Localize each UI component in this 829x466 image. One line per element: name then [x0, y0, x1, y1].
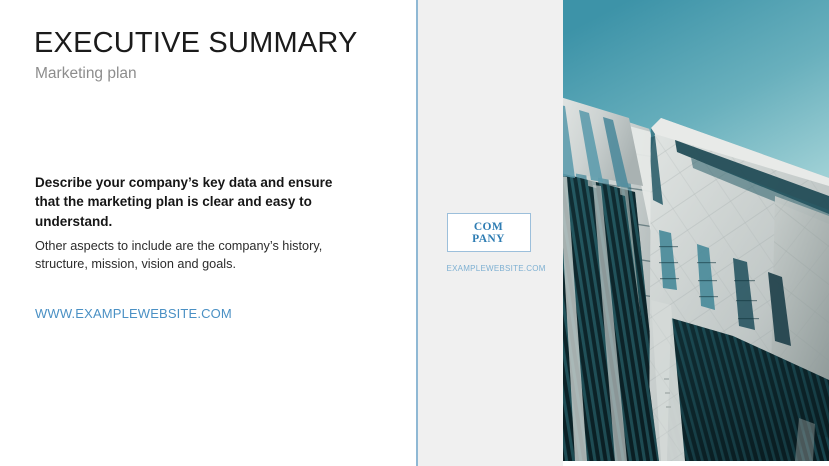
logo-line-2: PANY — [472, 233, 505, 245]
lead-paragraph: Describe your company’s key data and ens… — [35, 173, 335, 231]
page-subtitle: Marketing plan — [35, 64, 137, 84]
logo-line-1: COM — [474, 221, 503, 233]
website-link[interactable]: WWW.EXAMPLEWEBSITE.COM — [35, 305, 232, 323]
body-paragraph: Other aspects to include are the company… — [35, 237, 370, 273]
slide-canvas: EXECUTIVE SUMMARY Marketing plan Describ… — [0, 0, 829, 466]
building-photo-illustration — [563, 0, 829, 461]
building-photo — [563, 0, 829, 461]
left-content-column: EXECUTIVE SUMMARY Marketing plan Describ… — [0, 0, 416, 466]
logo-caption: EXAMPLEWEBSITE.COM — [447, 264, 533, 273]
company-logo: COM PANY — [447, 213, 531, 252]
page-title: EXECUTIVE SUMMARY — [34, 26, 358, 60]
logo-panel: COM PANY EXAMPLEWEBSITE.COM — [418, 0, 564, 466]
logo-block: COM PANY EXAMPLEWEBSITE.COM — [447, 213, 533, 273]
